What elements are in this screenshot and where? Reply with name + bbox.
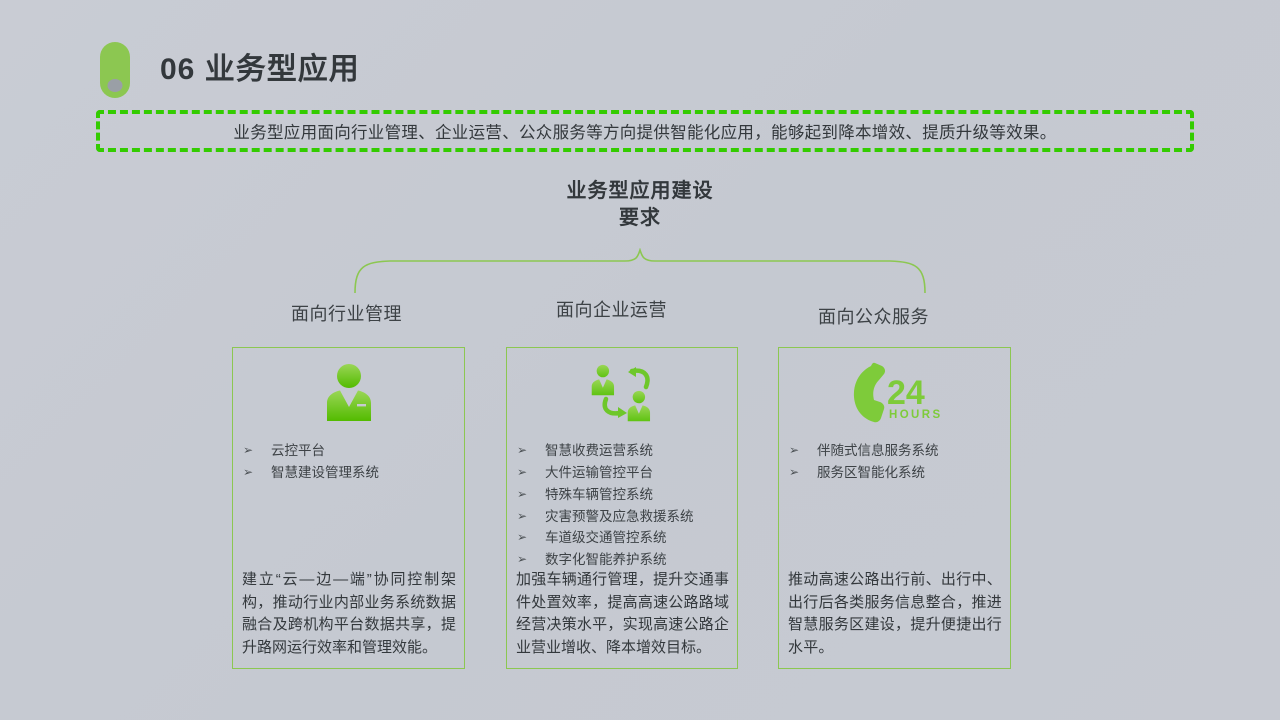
list-item: ➢ 智慧收费运营系统	[507, 440, 737, 462]
list-item: ➢ 特殊车辆管控系统	[507, 484, 737, 506]
arrow-bullet-icon: ➢	[507, 549, 543, 571]
list-item: ➢ 灾害预警及应急救援系统	[507, 506, 737, 528]
list-item: ➢ 服务区智能化系统	[779, 462, 1010, 484]
two-people-exchange-icon	[507, 356, 737, 434]
phone-icon-number: 24	[887, 374, 925, 412]
section-heading-line2: 要求	[0, 205, 1280, 232]
bullet-list-enterprise: ➢ 智慧收费运营系统 ➢ 大件运输管控平台 ➢ 特殊车辆管控系统 ➢ 灾害预警及…	[507, 434, 737, 571]
arrow-bullet-icon: ➢	[779, 440, 815, 462]
list-item: ➢ 智慧建设管理系统	[233, 462, 464, 484]
bullet-list-industry: ➢ 云控平台 ➢ 智慧建设管理系统	[233, 434, 464, 484]
arrow-bullet-icon: ➢	[779, 462, 815, 484]
card-industry-management[interactable]: ➢ 云控平台 ➢ 智慧建设管理系统 建立“云—边—端”协同控制架构，推动行业内部…	[232, 347, 465, 669]
column-label-public: 面向公众服务	[818, 303, 929, 329]
arrow-bullet-icon: ➢	[507, 462, 543, 484]
card-enterprise-operations[interactable]: ➢ 智慧收费运营系统 ➢ 大件运输管控平台 ➢ 特殊车辆管控系统 ➢ 灾害预警及…	[506, 347, 738, 669]
title-badge-dot-icon	[108, 79, 123, 92]
arrow-bullet-icon: ➢	[507, 440, 543, 462]
arrow-bullet-icon: ➢	[233, 440, 269, 462]
card-description: 推动高速公路出行前、出行中、出行后各类服务信息整合，推进智慧服务区建设，提升便捷…	[788, 569, 1002, 660]
arrow-bullet-icon: ➢	[507, 484, 543, 506]
phone-24-hours-icon: 24 HOURS	[779, 356, 1010, 434]
business-person-icon	[233, 356, 464, 434]
list-item: ➢ 大件运输管控平台	[507, 462, 737, 484]
list-item-label: 云控平台	[269, 440, 325, 462]
page-title: 06 业务型应用	[160, 55, 360, 85]
list-item: ➢ 伴随式信息服务系统	[779, 440, 1010, 462]
bullet-list-public: ➢ 伴随式信息服务系统 ➢ 服务区智能化系统	[779, 434, 1010, 484]
list-item-label: 智慧收费运营系统	[543, 440, 653, 462]
list-item: ➢ 车道级交通管控系统	[507, 527, 737, 549]
column-label-enterprise: 面向企业运营	[556, 296, 667, 322]
phone-icon-subtext: HOURS	[889, 409, 943, 421]
arrow-bullet-icon: ➢	[233, 462, 269, 484]
arrow-bullet-icon: ➢	[507, 506, 543, 528]
card-public-service[interactable]: 24 HOURS ➢ 伴随式信息服务系统 ➢ 服务区智能化系统 推动高速公路出行…	[778, 347, 1011, 669]
section-heading: 业务型应用建设 要求	[0, 178, 1280, 232]
title-badge-icon	[100, 42, 130, 98]
list-item-label: 灾害预警及应急救援系统	[543, 506, 694, 528]
page-title-row: 06 业务型应用	[100, 42, 360, 98]
card-description: 建立“云—边—端”协同控制架构，推动行业内部业务系统数据融合及跨机构平台数据共享…	[242, 569, 456, 660]
brace-connector	[330, 248, 950, 296]
card-description: 加强车辆通行管理，提升交通事件处置效率，提高高速公路路域经营决策水平，实现高速公…	[516, 569, 729, 660]
list-item-label: 伴随式信息服务系统	[815, 440, 939, 462]
list-item-label: 特殊车辆管控系统	[543, 484, 653, 506]
list-item-label: 车道级交通管控系统	[543, 527, 667, 549]
list-item-label: 服务区智能化系统	[815, 462, 925, 484]
summary-text: 业务型应用面向行业管理、企业运营、公众服务等方向提供智能化应用，能够起到降本增效…	[233, 119, 1056, 143]
column-label-industry: 面向行业管理	[291, 300, 402, 326]
list-item-label: 智慧建设管理系统	[269, 462, 379, 484]
section-heading-line1: 业务型应用建设	[0, 178, 1280, 205]
arrow-bullet-icon: ➢	[507, 527, 543, 549]
list-item: ➢ 云控平台	[233, 440, 464, 462]
list-item-label: 大件运输管控平台	[543, 462, 653, 484]
summary-box: 业务型应用面向行业管理、企业运营、公众服务等方向提供智能化应用，能够起到降本增效…	[96, 110, 1194, 152]
